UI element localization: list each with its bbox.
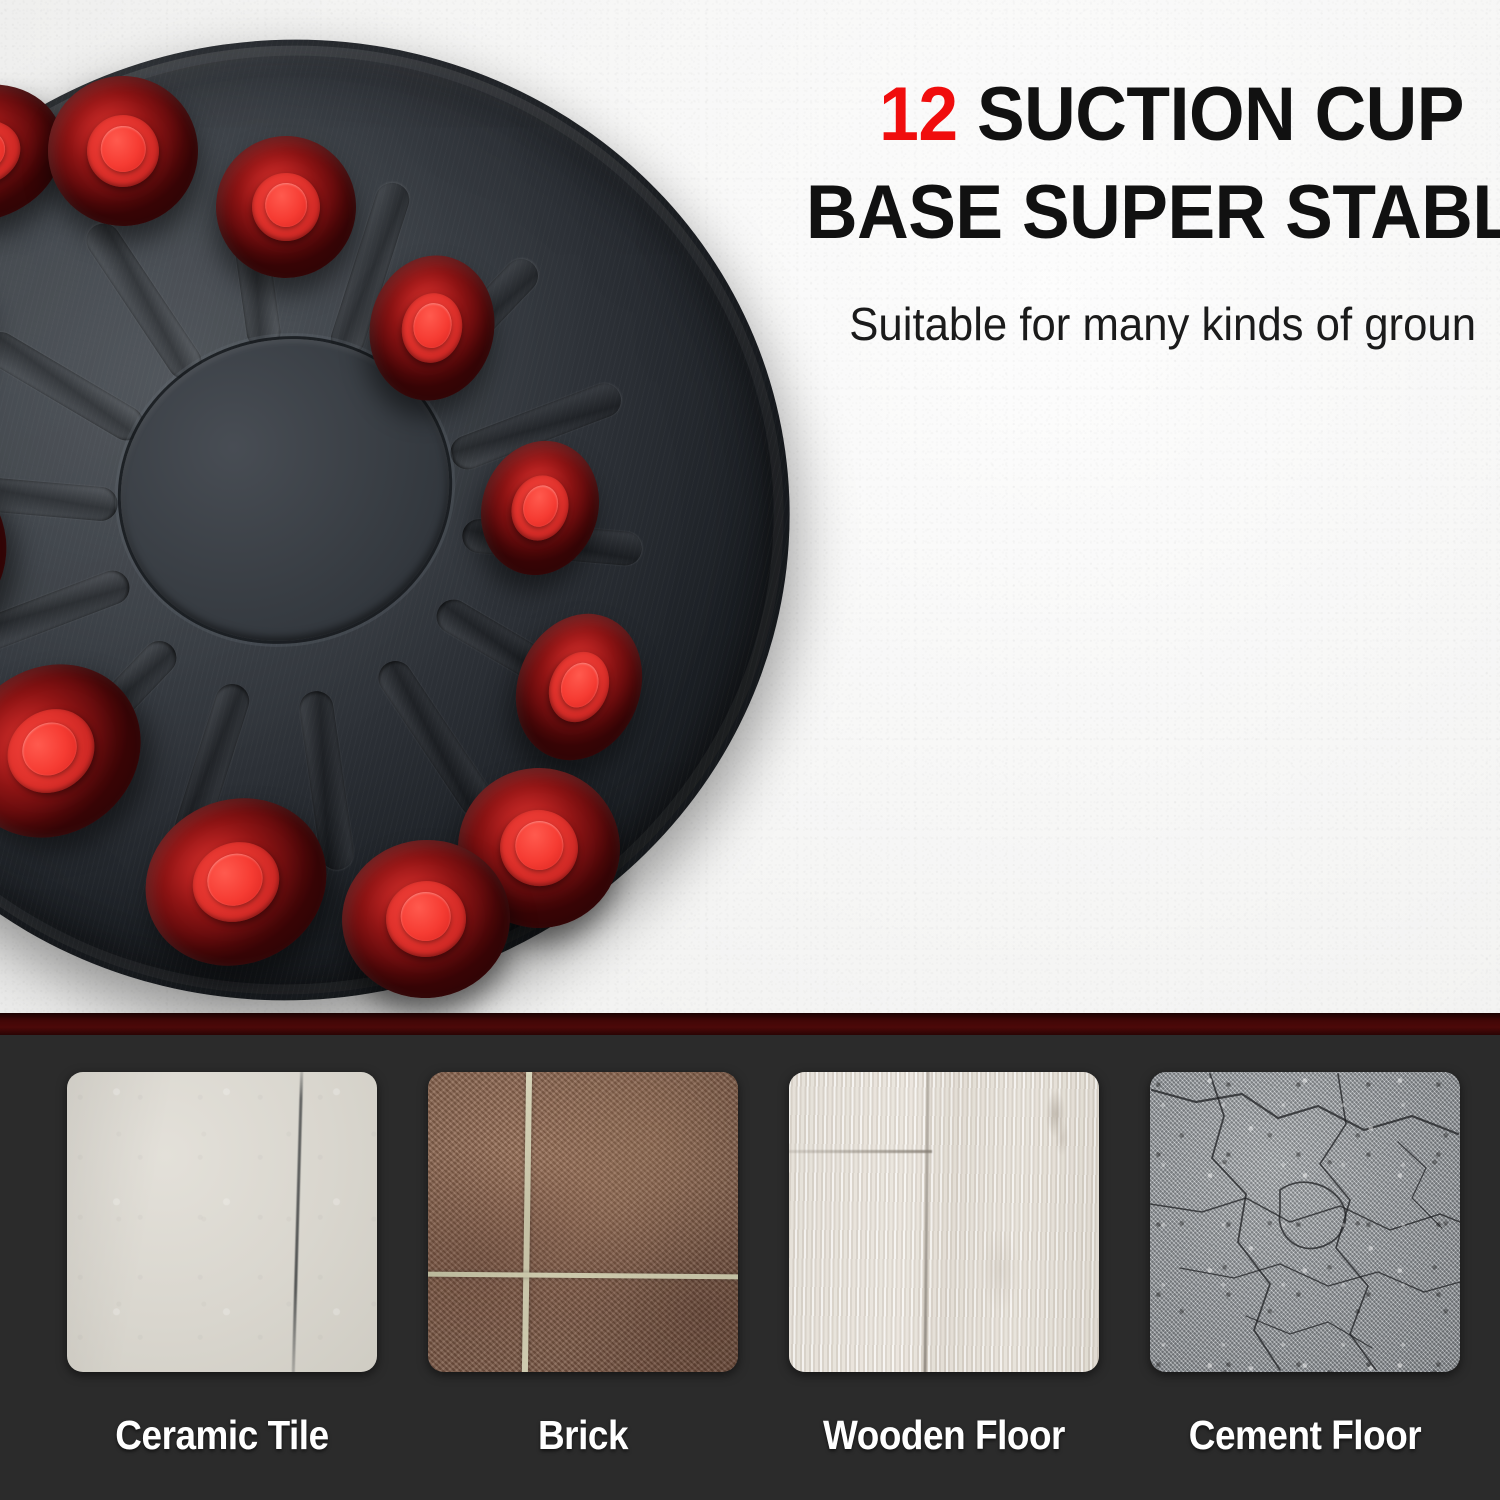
suction-cup — [0, 218, 12, 444]
surface-label-row: Ceramic Tile Brick Wooden Floor Cement F… — [67, 1410, 1461, 1460]
ceramic-tile-speckle — [67, 1072, 377, 1372]
section-divider — [0, 1013, 1500, 1035]
surface-thumbnail-ceramic-tile — [67, 1072, 377, 1372]
suction-cup — [41, 69, 206, 234]
surface-label-brick: Brick — [444, 1410, 723, 1460]
headline-line-1-text: SUCTION CUP — [958, 72, 1464, 157]
surface-label-ceramic-tile: Ceramic Tile — [83, 1410, 362, 1460]
headline-count: 12 — [879, 72, 958, 157]
surface-thumbnail-row — [67, 1072, 1461, 1372]
surface-thumbnail-wooden-floor — [789, 1072, 1099, 1372]
surface-label-wooden-floor: Wooden Floor — [805, 1410, 1084, 1460]
headline-line-1: 12 SUCTION CUP — [806, 66, 1464, 164]
headline-line-2: BASE SUPER STABLE — [806, 164, 1464, 262]
wood-plank-seam-horizontal — [789, 1150, 932, 1153]
suction-cup — [0, 629, 175, 873]
headline-block: 12 SUCTION CUP BASE SUPER STABLE — [764, 66, 1464, 262]
wood-knots — [789, 1072, 1099, 1372]
sub-headline: Suitable for many kinds of groun — [754, 296, 1476, 352]
suction-cup — [464, 425, 616, 590]
surface-label-cement-floor: Cement Floor — [1166, 1410, 1445, 1460]
product-feature-image: 12 SUCTION CUP BASE SUPER STABLE Suitabl… — [0, 0, 1500, 1500]
product-base-photo — [0, 40, 800, 1013]
surfaces-section: Ceramic Tile Brick Wooden Floor Cement F… — [0, 1035, 1500, 1500]
surface-thumbnail-brick — [428, 1072, 738, 1372]
suction-cup — [356, 244, 508, 413]
suction-cup — [0, 425, 42, 669]
suction-cup — [494, 595, 663, 780]
brick-mottle — [428, 1072, 738, 1372]
suction-cup — [119, 770, 354, 995]
hero-section: 12 SUCTION CUP BASE SUPER STABLE Suitabl… — [0, 0, 1500, 1013]
surface-thumbnail-cement-floor — [1150, 1072, 1460, 1372]
suction-cup-group — [0, 40, 800, 1013]
cement-speckle — [1150, 1072, 1460, 1372]
suction-cup — [211, 131, 361, 282]
